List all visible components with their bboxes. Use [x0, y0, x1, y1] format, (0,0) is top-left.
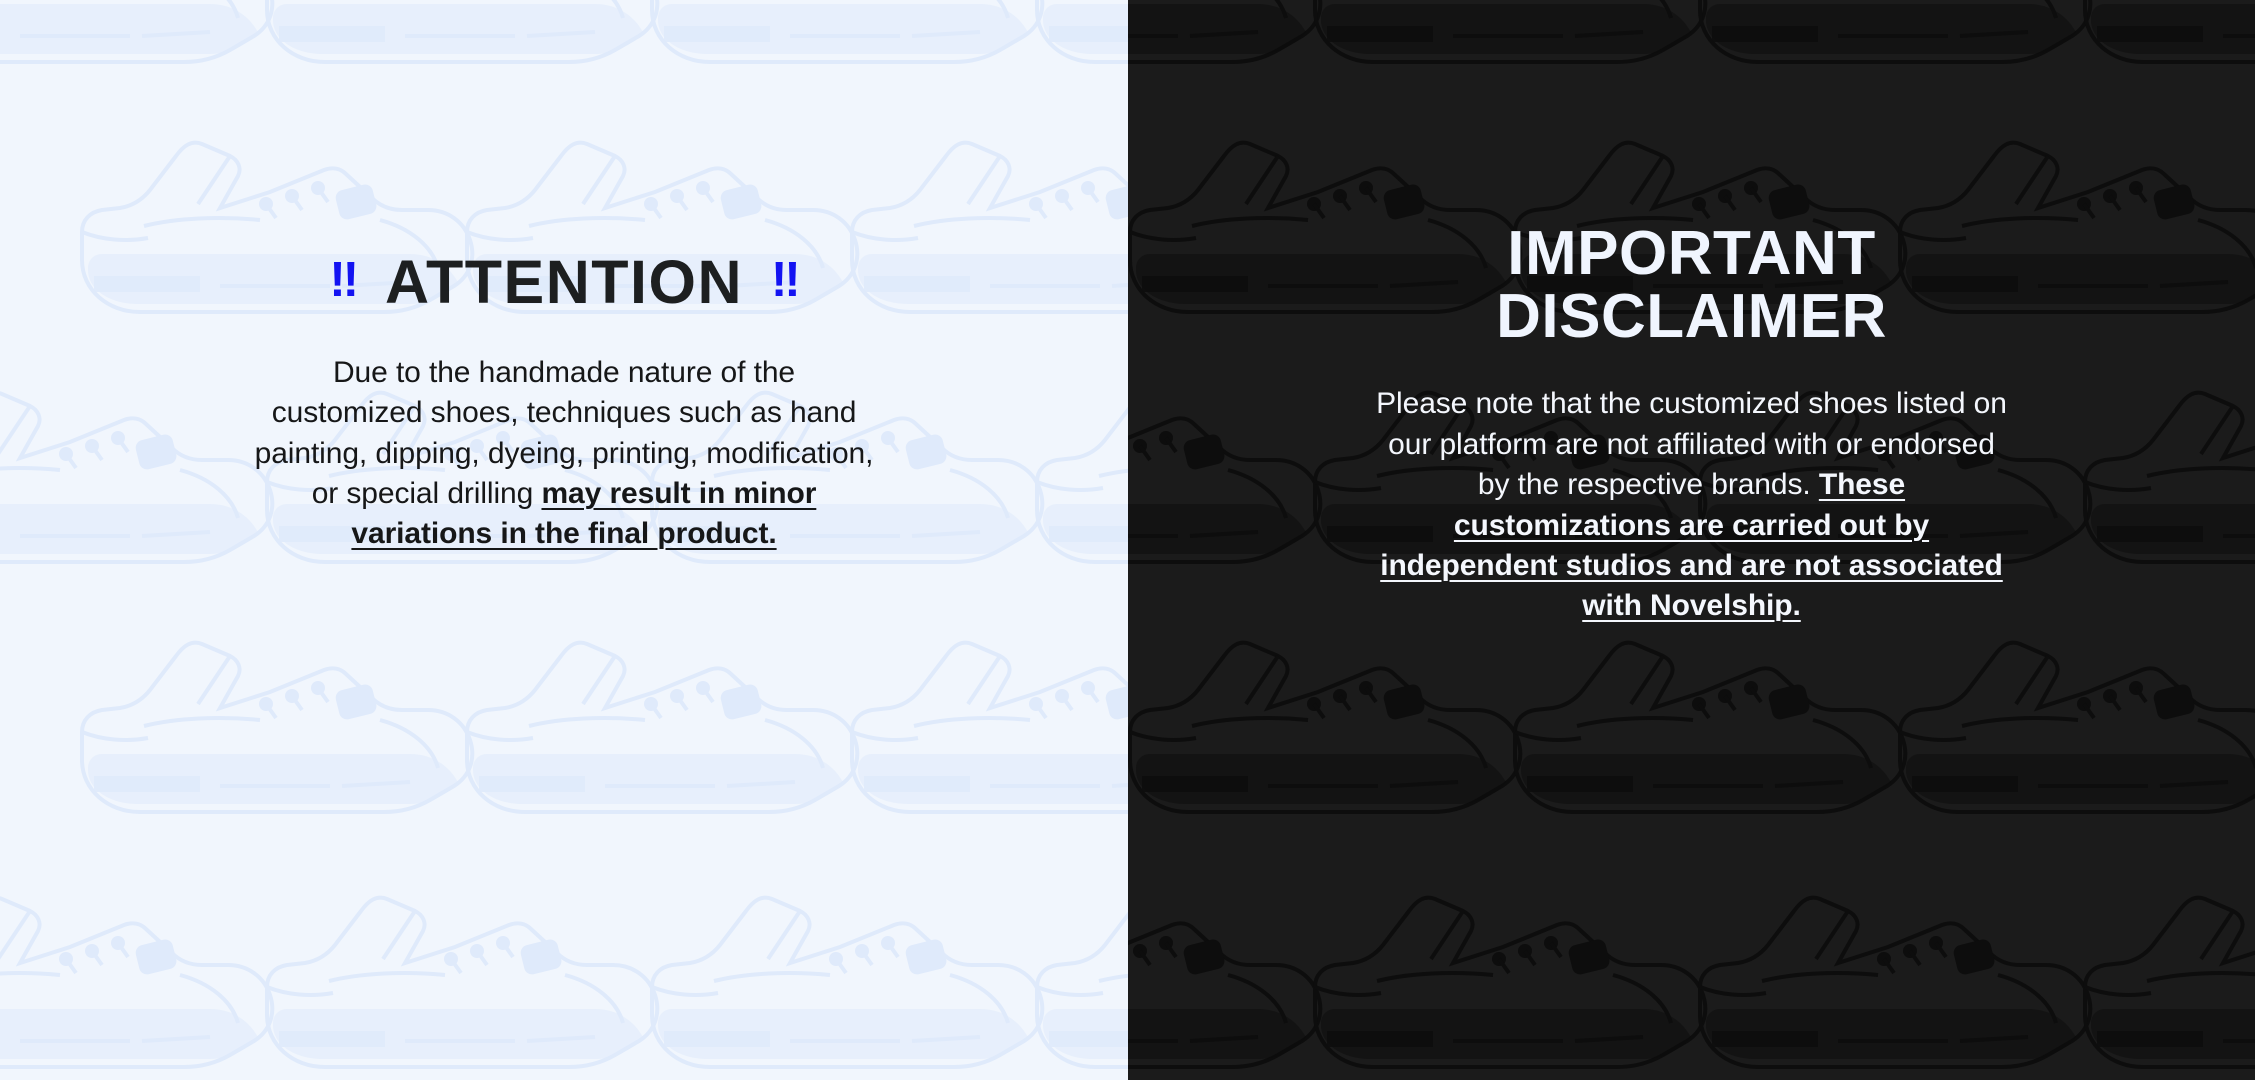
attention-panel: ‼ ATTENTION ‼ Due to the handmade nature… — [0, 0, 1128, 1080]
disclaimer-content: IMPORTANT DISCLAIMER Please note that th… — [1128, 222, 2255, 627]
attention-title: ATTENTION — [385, 252, 743, 313]
disclaimer-heading: IMPORTANT DISCLAIMER — [1496, 222, 1887, 348]
disclaimer-body-normal: Please note that the customized shoes li… — [1376, 387, 2007, 501]
double-exclamation-right-icon: ‼ — [771, 256, 799, 305]
disclaimer-body: Please note that the customized shoes li… — [1372, 384, 2012, 626]
disclaimer-title-line1: IMPORTANT — [1496, 222, 1887, 285]
attention-body: Due to the handmade nature of the custom… — [254, 353, 874, 555]
disclaimer-panel: IMPORTANT DISCLAIMER Please note that th… — [1128, 0, 2255, 1080]
double-exclamation-left-icon: ‼ — [329, 256, 357, 305]
disclaimer-banner: ‼ ATTENTION ‼ Due to the handmade nature… — [0, 0, 2255, 1080]
disclaimer-title-line2: DISCLAIMER — [1496, 285, 1887, 348]
attention-heading: ‼ ATTENTION ‼ — [329, 252, 798, 313]
attention-content: ‼ ATTENTION ‼ Due to the handmade nature… — [0, 252, 1128, 555]
